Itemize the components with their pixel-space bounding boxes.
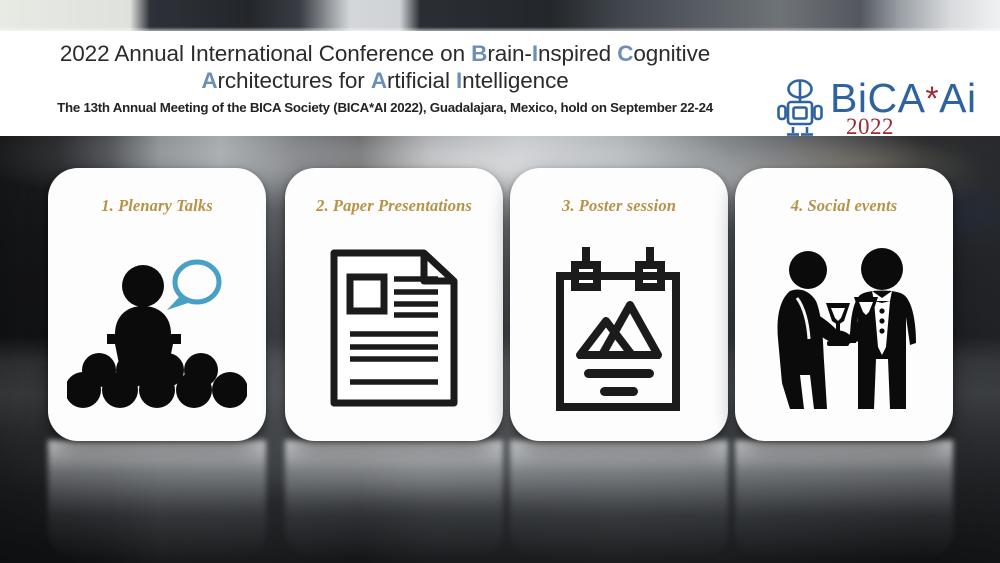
card-poster-session[interactable]: 3. Poster session [510,168,728,441]
document-page-icon [328,247,460,409]
card-paper-presentations[interactable]: 2. Paper Presentations [285,168,503,441]
card-art-1 [48,230,266,426]
two-people-toasting-icon [764,243,924,413]
card-title-2: 2. Paper Presentations [285,196,503,216]
card-art-4 [735,230,953,426]
card-title-4: 4. Social events [735,196,953,216]
slide-stage: 2022 Annual International Conference on … [0,0,1000,563]
hanging-poster-board-icon [554,243,684,413]
card-plenary-talks[interactable]: 1. Plenary Talks [48,168,266,441]
card-title-3: 3. Poster session [510,196,728,216]
card-art-3 [510,230,728,426]
card-art-2 [285,230,503,426]
program-cards: 1. Plenary Talks [0,0,1000,563]
card-social-events[interactable]: 4. Social events [735,168,953,441]
speaker-podium-audience-icon [67,248,247,408]
card-title-1: 1. Plenary Talks [48,196,266,216]
